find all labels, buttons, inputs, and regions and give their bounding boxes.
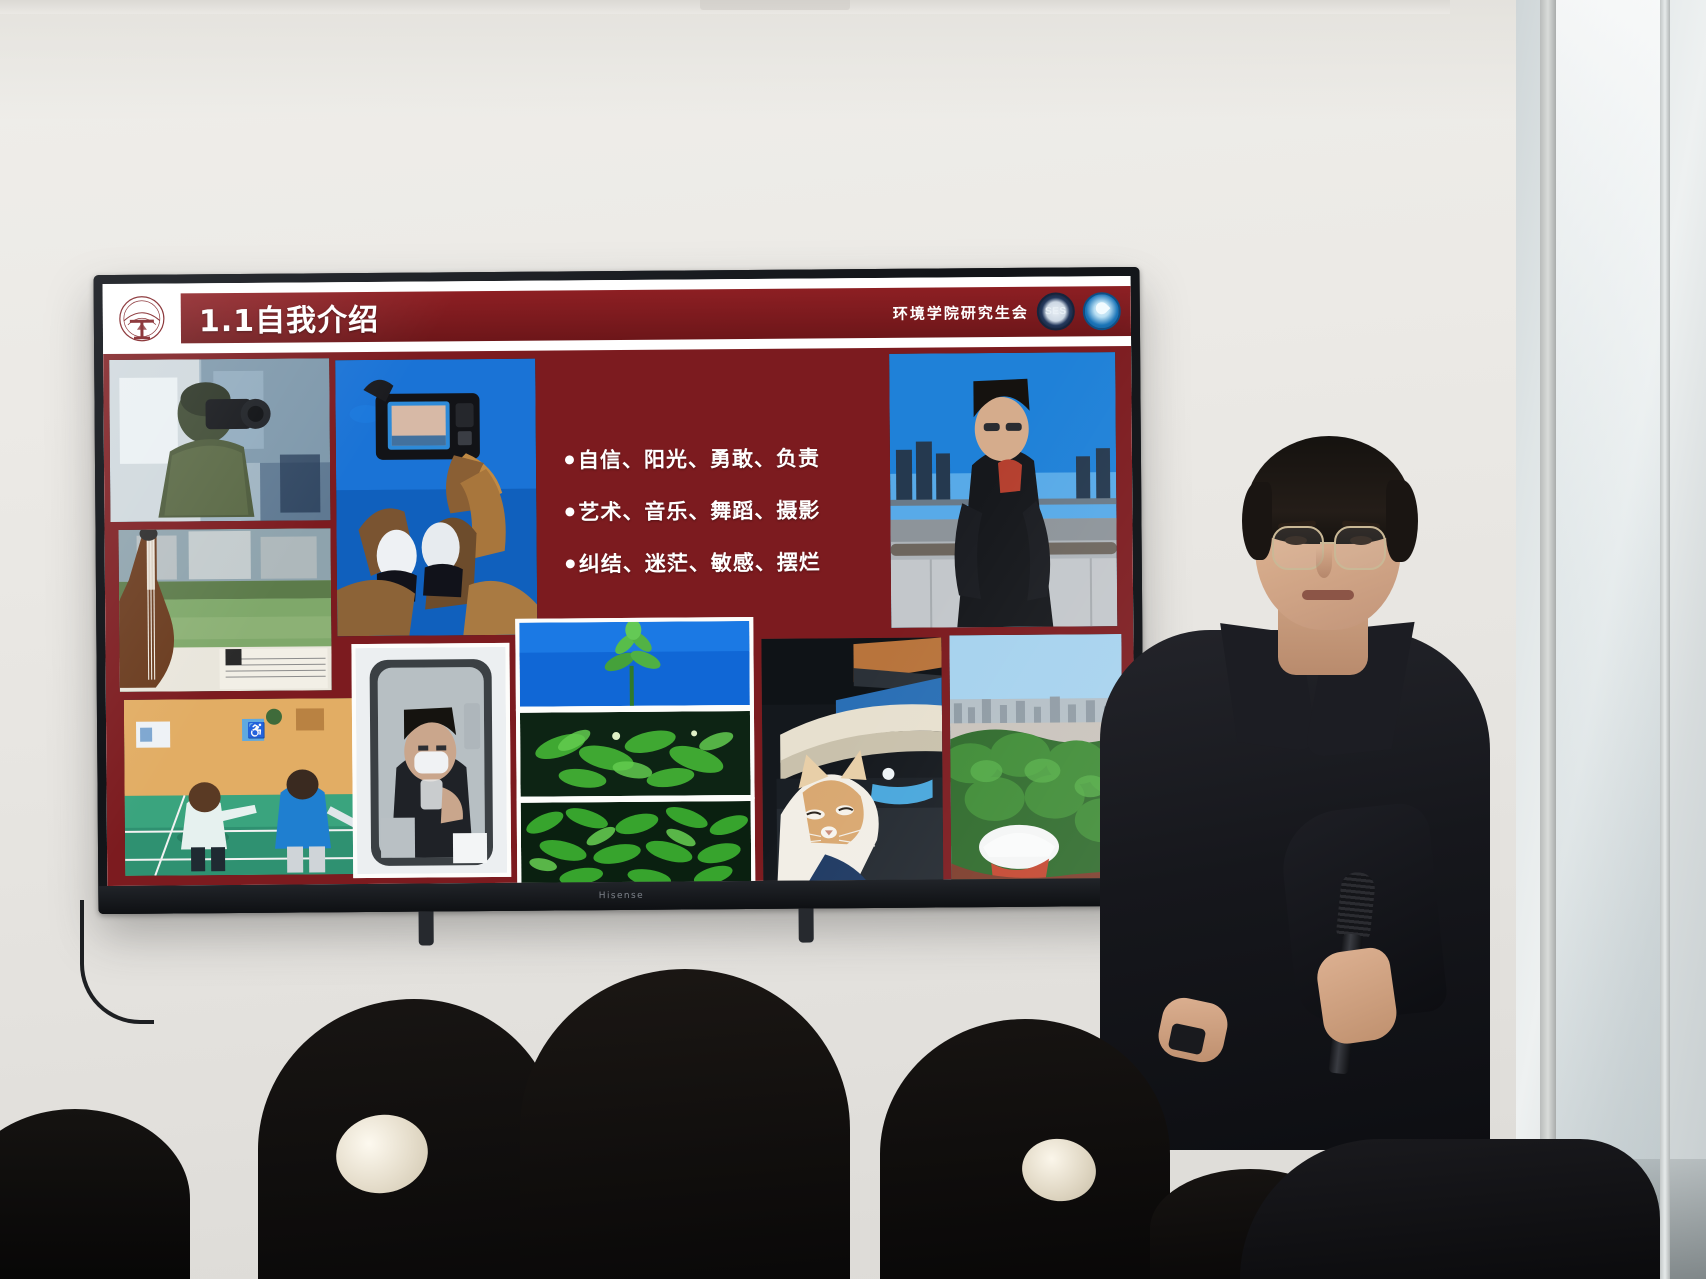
slide-title: 1.1自我介绍 — [199, 295, 379, 340]
bullet-item-3: 纠结、迷茫、敏感、摆烂 — [566, 546, 866, 578]
slide-header: 1.1自我介绍 环境学院研究生会 — [103, 276, 1132, 354]
bullet-dot-icon — [566, 559, 575, 568]
tv-brand-label: Hisense — [599, 891, 644, 901]
window-glass-glow — [1556, 0, 1660, 1279]
bullet-item-1: 自信、阳光、勇敢、负责 — [565, 442, 865, 474]
presenter-hand-right — [1314, 945, 1400, 1046]
presenter-hair-side-left — [1242, 482, 1272, 560]
tv-screen[interactable]: 1.1自我介绍 环境学院研究生会 — [103, 276, 1136, 886]
room-scene: 1.1自我介绍 环境学院研究生会 — [0, 0, 1706, 1279]
photo-camera-soldier — [109, 358, 330, 522]
tv-mount-foot-left — [419, 911, 434, 945]
photo-elevator-mirror — [351, 643, 511, 878]
ceiling-vent — [700, 0, 850, 10]
slide-body: ♿ — [103, 346, 1135, 886]
slide-header-right: 环境学院研究生会 — [893, 292, 1121, 332]
photo-cello-lake — [119, 528, 332, 692]
presentation-slide: 1.1自我介绍 环境学院研究生会 — [103, 276, 1136, 886]
ses-seal-icon — [1037, 292, 1075, 330]
presenter — [1080, 430, 1500, 1130]
window-mullion — [1660, 0, 1670, 1279]
photo-plant-closeup — [516, 707, 755, 801]
bullet-dot-icon — [565, 455, 574, 464]
audience-head-4 — [880, 1019, 1170, 1279]
wall-mounted-television[interactable]: 1.1自我介绍 环境学院研究生会 — [94, 267, 1145, 914]
bullet-text-2: 艺术、音乐、舞蹈、摄影 — [578, 494, 820, 526]
bullet-list: 自信、阳光、勇敢、负责 艺术、音乐、舞蹈、摄影 纠结、迷茫、敏感、摆烂 — [565, 442, 866, 578]
photo-plant-bush — [517, 797, 756, 886]
organization-name: 环境学院研究生会 — [893, 301, 1029, 323]
bullet-text-1: 自信、阳光、勇敢、负责 — [578, 442, 820, 474]
glasses-bridge — [1320, 542, 1336, 544]
audience-head-3 — [520, 969, 850, 1279]
window-frame — [1540, 0, 1556, 1279]
presenter-nose — [1316, 548, 1332, 578]
university-seal-icon — [117, 294, 167, 344]
water-drop-icon — [1083, 292, 1121, 330]
photo-plant-sky — [515, 617, 754, 711]
presenter-hair-side-right — [1386, 480, 1418, 562]
bullet-text-3: 纠结、迷茫、敏感、摆烂 — [579, 546, 821, 578]
bullet-item-2: 艺术、音乐、舞蹈、摄影 — [565, 494, 865, 526]
tv-mount-foot-right — [799, 908, 814, 942]
presenter-mouth — [1302, 590, 1354, 600]
bullet-dot-icon — [565, 507, 574, 516]
photo-cat-bench — [761, 637, 943, 886]
svg-text:♿: ♿ — [247, 722, 266, 740]
slide-title-bar: 1.1自我介绍 环境学院研究生会 — [181, 286, 1131, 343]
photo-collage: ♿ — [109, 352, 1129, 880]
glasses-lens-right — [1334, 526, 1386, 570]
microphone-head — [1336, 871, 1377, 940]
photo-camera-pov — [335, 359, 537, 637]
wall-top-shading — [0, 0, 1706, 120]
